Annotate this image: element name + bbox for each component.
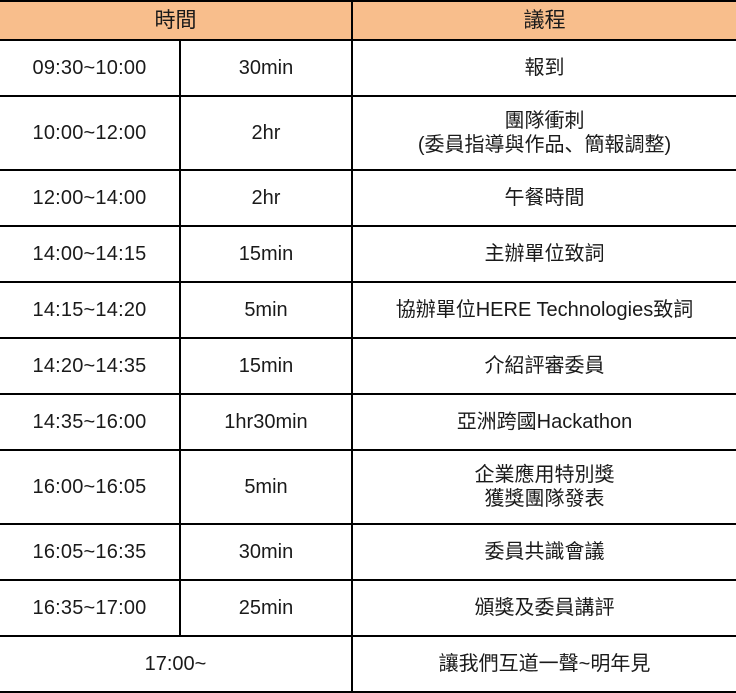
cell-time-merged: 17:00~ [0,636,352,692]
table-row: 16:35~17:0025min頒獎及委員講評 [0,580,736,636]
agenda-line: 企業應用特別獎 [357,463,732,487]
cell-time: 14:20~14:35 [0,338,180,394]
agenda-line: 委員共識會議 [357,540,732,564]
cell-duration: 5min [180,282,352,338]
cell-duration: 1hr30min [180,394,352,450]
column-header-agenda: 議程 [352,1,736,40]
table-row-final: 17:00~讓我們互道一聲~明年見 [0,636,736,692]
table-row: 14:35~16:001hr30min亞洲跨國Hackathon [0,394,736,450]
agenda-line: (委員指導與作品、簡報調整) [357,133,732,157]
table-row: 14:15~14:205min協辦單位HERE Technologies致詞 [0,282,736,338]
agenda-line: 頒獎及委員講評 [357,596,732,620]
cell-time: 16:00~16:05 [0,450,180,524]
cell-agenda: 頒獎及委員講評 [352,580,736,636]
cell-duration: 2hr [180,96,352,170]
cell-time: 09:30~10:00 [0,40,180,96]
agenda-line: 團隊衝刺 [357,109,732,133]
agenda-line: 午餐時間 [357,186,732,210]
table-header: 時間 議程 [0,1,736,40]
cell-agenda: 讓我們互道一聲~明年見 [352,636,736,692]
cell-time: 12:00~14:00 [0,170,180,226]
cell-duration: 5min [180,450,352,524]
table-row: 09:30~10:0030min報到 [0,40,736,96]
cell-time: 16:05~16:35 [0,524,180,580]
table-row: 16:00~16:055min企業應用特別獎獲獎團隊發表 [0,450,736,524]
agenda-line: 報到 [357,56,732,80]
cell-agenda: 介紹評審委員 [352,338,736,394]
table-row: 12:00~14:002hr午餐時間 [0,170,736,226]
header-row: 時間 議程 [0,1,736,40]
agenda-line: 獲獎團隊發表 [357,487,732,511]
agenda-line: 介紹評審委員 [357,354,732,378]
agenda-line: 讓我們互道一聲~明年見 [357,652,732,676]
cell-duration: 30min [180,524,352,580]
cell-duration: 15min [180,338,352,394]
agenda-line: 主辦單位致詞 [357,242,732,266]
agenda-table: 時間 議程 09:30~10:0030min報到10:00~12:002hr團隊… [0,0,736,693]
cell-agenda: 主辦單位致詞 [352,226,736,282]
cell-agenda: 協辦單位HERE Technologies致詞 [352,282,736,338]
cell-time: 14:00~14:15 [0,226,180,282]
agenda-line: 亞洲跨國Hackathon [357,410,732,434]
cell-time: 14:35~16:00 [0,394,180,450]
cell-agenda: 報到 [352,40,736,96]
cell-time: 10:00~12:00 [0,96,180,170]
table-row: 10:00~12:002hr團隊衝刺(委員指導與作品、簡報調整) [0,96,736,170]
cell-agenda: 委員共識會議 [352,524,736,580]
cell-duration: 30min [180,40,352,96]
cell-time: 14:15~14:20 [0,282,180,338]
cell-duration: 2hr [180,170,352,226]
cell-agenda: 團隊衝刺(委員指導與作品、簡報調整) [352,96,736,170]
cell-agenda: 亞洲跨國Hackathon [352,394,736,450]
table-row: 14:20~14:3515min介紹評審委員 [0,338,736,394]
column-header-time: 時間 [0,1,352,40]
cell-time: 16:35~17:00 [0,580,180,636]
cell-agenda: 企業應用特別獎獲獎團隊發表 [352,450,736,524]
cell-duration: 25min [180,580,352,636]
table-row: 14:00~14:1515min主辦單位致詞 [0,226,736,282]
cell-agenda: 午餐時間 [352,170,736,226]
agenda-line: 協辦單位HERE Technologies致詞 [357,298,732,322]
table-row: 16:05~16:3530min委員共識會議 [0,524,736,580]
cell-duration: 15min [180,226,352,282]
table-body: 09:30~10:0030min報到10:00~12:002hr團隊衝刺(委員指… [0,40,736,692]
